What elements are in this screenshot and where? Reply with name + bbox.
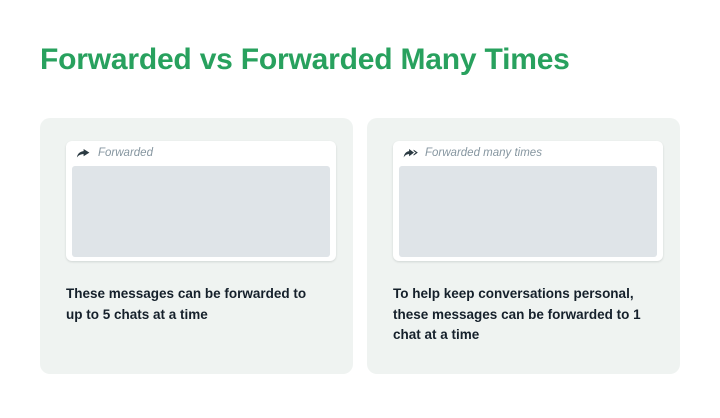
card-forwarded: Forwarded These messages can be forwarde…	[40, 118, 353, 374]
chat-bubble-forwarded: Forwarded	[66, 141, 336, 261]
card-forwarded-many-times: Forwarded many times To help keep conver…	[367, 118, 680, 374]
double-forward-arrow-icon	[403, 148, 418, 160]
bubble-forward-header: Forwarded many times	[399, 147, 657, 166]
forward-arrow-icon	[76, 148, 91, 160]
card-caption: These messages can be forwarded to up to…	[66, 284, 322, 325]
media-placeholder	[399, 166, 657, 257]
chat-bubble-forwarded-many-times: Forwarded many times	[393, 141, 663, 261]
page-title: Forwarded vs Forwarded Many Times	[40, 43, 570, 77]
page-root: Forwarded vs Forwarded Many Times Forwar…	[0, 0, 720, 418]
media-placeholder	[72, 166, 330, 257]
forward-label: Forwarded many times	[425, 148, 542, 160]
bubble-forward-header: Forwarded	[72, 147, 330, 166]
forward-label: Forwarded	[98, 148, 153, 160]
card-caption: To help keep conversations personal, the…	[393, 284, 649, 346]
comparison-cards: Forwarded These messages can be forwarde…	[40, 118, 680, 374]
